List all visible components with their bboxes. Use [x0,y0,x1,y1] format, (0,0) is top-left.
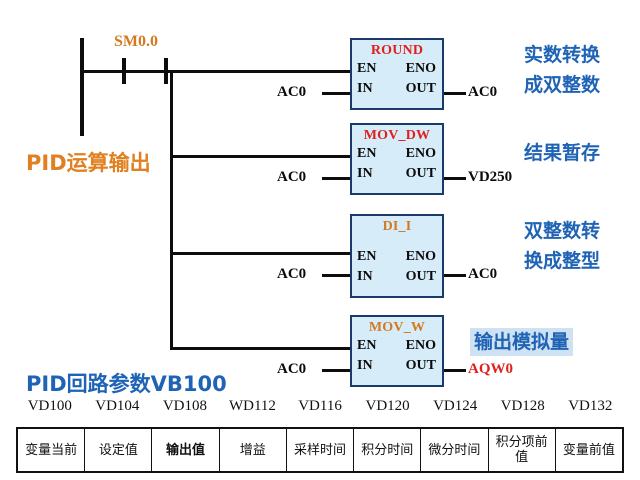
rung1-out-operand: AC0 [468,84,497,101]
table-cell: 微分时间 [421,429,488,471]
rung-top-wire-left [82,70,122,73]
rung1-note-line1: 实数转换 [524,42,600,68]
left-power-rail [80,38,84,136]
address-label: VD124 [421,398,489,415]
block-eno-label: ENO [406,146,436,162]
block-in-label: IN [357,358,373,374]
rung4-out-wire [444,369,466,372]
block-in-label: IN [357,269,373,285]
address-label: VD120 [354,398,422,415]
rung4-in-wire [322,369,352,372]
rung2-out-operand: VD250 [468,169,512,186]
pid-loop-parameter-label: PID回路参数VB100 [26,368,227,398]
block-in-label: IN [357,81,373,97]
address-label: VD104 [84,398,152,415]
table-cell: 变量当前 [18,429,85,471]
rung2-out-wire [444,177,466,180]
rung4-out-operand: AQW0 [468,361,513,378]
rung2-in-wire [322,177,352,180]
block-title-mov-dw: MOV_DW [352,128,442,144]
rung1-in-wire [322,92,352,95]
block-eno-label: ENO [406,338,436,354]
address-label: VD132 [557,398,625,415]
block-eno-label: ENO [406,249,436,265]
ladder-diagram-canvas: SM0.0 PID运算输出 AC0 ROUND EN IN ENO OUT AC… [0,0,640,480]
rung-top-wire-mid [126,70,164,73]
block-title-mov-w: MOV_W [352,320,442,336]
address-label: VD128 [489,398,557,415]
block-in-label: IN [357,166,373,182]
rung2-en-wire [170,155,352,158]
block-title-round: ROUND [352,43,442,59]
rung2-in-operand: AC0 [277,169,306,186]
table-cell: 积分时间 [354,429,421,471]
function-block-round[interactable]: ROUND EN IN ENO OUT [350,38,444,110]
address-row: VD100 VD104 VD108 WD112 VD116 VD120 VD12… [16,398,624,415]
block-en-label: EN [357,61,376,77]
address-label: VD108 [151,398,219,415]
rung1-en-wire [300,70,352,73]
table-cell: 采样时间 [287,429,354,471]
block-out-label: OUT [406,166,436,182]
rung3-in-wire [322,274,352,277]
rung1-out-wire [444,92,466,95]
block-out-label: OUT [406,81,436,97]
rung3-in-operand: AC0 [277,266,306,283]
rung1-note-line2: 成双整数 [524,72,600,98]
rung3-note-line2: 换成整型 [524,248,600,274]
table-cell: 输出值 [152,429,219,471]
address-label: VD100 [16,398,84,415]
parameter-table: 变量当前 设定值 输出值 增益 采样时间 积分时间 微分时间 积分项前值 变量前… [16,427,624,473]
rung1-in-operand: AC0 [277,84,306,101]
rung4-in-operand: AC0 [277,361,306,378]
rung4-note-line1: 输出模拟量 [470,328,573,356]
block-eno-label: ENO [406,61,436,77]
rung3-out-wire [444,274,466,277]
rung3-en-wire [170,252,352,255]
rung3-out-operand: AC0 [468,266,497,283]
table-cell: 积分项前值 [489,429,556,471]
table-cell: 设定值 [85,429,152,471]
rung3-note-line1: 双整数转 [524,218,600,244]
block-en-label: EN [357,249,376,265]
contact-tag-sm00: SM0.0 [114,33,158,51]
function-block-mov-w[interactable]: MOV_W EN IN ENO OUT [350,315,444,387]
function-block-mov-dw[interactable]: MOV_DW EN IN ENO OUT [350,123,444,195]
function-block-di-i[interactable]: DI_I EN IN ENO OUT [350,214,444,298]
branch-vertical-bus [170,70,173,350]
block-out-label: OUT [406,358,436,374]
address-label: VD116 [286,398,354,415]
block-en-label: EN [357,338,376,354]
block-title-di-i: DI_I [352,219,442,235]
table-cell: 增益 [220,429,287,471]
rung2-note-line1: 结果暂存 [524,140,600,166]
block-out-label: OUT [406,269,436,285]
address-label: WD112 [219,398,287,415]
rung4-en-wire [170,347,352,350]
pid-output-label: PID运算输出 [26,147,151,177]
table-cell: 变量前值 [556,429,622,471]
block-en-label: EN [357,146,376,162]
